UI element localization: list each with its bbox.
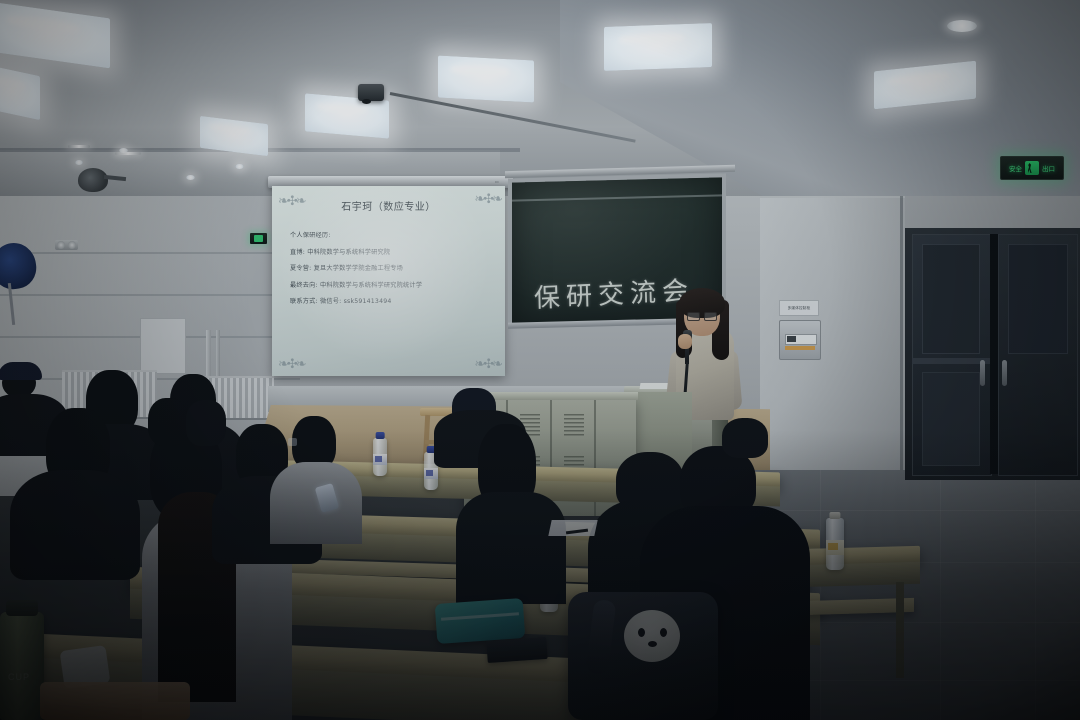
blackboard-text: 保研交流会 bbox=[534, 270, 695, 315]
thermos-cap bbox=[6, 600, 38, 616]
audience-head bbox=[722, 418, 768, 458]
control-panel-row bbox=[785, 334, 817, 345]
door-panel bbox=[1008, 244, 1068, 354]
snack-package bbox=[40, 682, 190, 720]
door-panel bbox=[922, 372, 980, 466]
control-panel-label: 多媒体控制柜 bbox=[788, 306, 811, 311]
wall-seam bbox=[0, 294, 300, 296]
slide-ornament-icon: ❧✣❧ bbox=[474, 192, 501, 205]
locker-vent bbox=[564, 414, 584, 436]
notebook bbox=[486, 637, 547, 663]
slide-body: 个人保研经历: 直博: 中科院数学与系统科学研究院 夏令营: 复旦大学数学学院金… bbox=[290, 230, 495, 313]
ceiling-downlight bbox=[75, 160, 83, 165]
floor-tile-line bbox=[1035, 470, 1036, 720]
thermos-flask bbox=[0, 612, 44, 720]
emergency-exit-sign: 安全 出口 bbox=[1000, 156, 1064, 180]
panda-nose-icon bbox=[648, 641, 657, 647]
door-handle[interactable] bbox=[980, 360, 985, 386]
ceiling-projector bbox=[358, 84, 384, 101]
slide-line: 最终去向: 中科院数学与系统科学研究院统计学 bbox=[290, 280, 495, 289]
slide-ornament-icon: ❧✣❧ bbox=[278, 357, 305, 370]
emergency-light bbox=[55, 240, 78, 250]
emergency-exit-sign-secondary bbox=[250, 233, 267, 244]
ceiling-downlight bbox=[947, 20, 977, 32]
thermos-label: CUP bbox=[8, 672, 30, 682]
wall-corner bbox=[900, 196, 903, 496]
control-panel-strip bbox=[785, 346, 815, 350]
running-person-exit-icon bbox=[254, 235, 263, 242]
lecture-hall-photo: 安全 出口 消防栓 多媒体控制柜 ▭ ❧✣❧ ❧✣❧ ❧✣❧ ❧✣❧ 石宇珂（数… bbox=[0, 0, 1080, 720]
water-bottle bbox=[373, 438, 387, 476]
ceiling-slit-light bbox=[68, 145, 90, 148]
floor-tile-line bbox=[820, 470, 821, 720]
ceiling-downlight bbox=[235, 164, 244, 169]
projector-lens-icon bbox=[362, 99, 371, 104]
slide-line: 联系方式: 微信号: ssk591413494 bbox=[290, 296, 495, 305]
audience-head bbox=[186, 400, 226, 446]
ceiling-downlight bbox=[186, 175, 195, 180]
door-panel bbox=[922, 244, 980, 354]
notebook-page bbox=[548, 520, 597, 536]
slide-ornament-icon: ❧✣❧ bbox=[474, 357, 501, 370]
bottle-label bbox=[424, 468, 438, 479]
running-person-exit-icon bbox=[1025, 161, 1039, 175]
exit-sign-right-label: 出口 bbox=[1042, 163, 1055, 173]
projector-screen: ❧✣❧ ❧✣❧ ❧✣❧ ❧✣❧ 石宇珂（数应专业） 个人保研经历: 直博: 中科… bbox=[272, 186, 505, 376]
wall-fan bbox=[78, 168, 108, 192]
av-control-panel[interactable] bbox=[779, 320, 821, 360]
water-bottle bbox=[826, 518, 844, 570]
bottle-label bbox=[826, 540, 844, 556]
floor-tile-line bbox=[940, 470, 941, 720]
bottle-cap bbox=[829, 512, 840, 519]
presenter-hand bbox=[678, 334, 692, 349]
ceiling-panel-light bbox=[604, 23, 712, 71]
glasses-icon bbox=[687, 312, 717, 319]
slide-line: 个人保研经历: bbox=[290, 230, 495, 239]
slide-ornament-icon: ❧✣❧ bbox=[278, 194, 305, 207]
bottle-label bbox=[373, 454, 387, 465]
audience-hair bbox=[148, 398, 188, 446]
panda-eye-icon bbox=[638, 628, 645, 637]
wall-seam bbox=[0, 252, 300, 254]
slide-title: 石宇珂（数应专业） bbox=[272, 198, 505, 213]
ceiling-slit-light bbox=[115, 152, 141, 155]
control-panel-sign: 多媒体控制柜 bbox=[779, 300, 819, 316]
panda-eye-icon bbox=[660, 628, 667, 637]
pencil-case bbox=[435, 598, 526, 644]
slide-line: 夏令营: 复旦大学数学学院金融工程专场 bbox=[290, 263, 495, 272]
slide-line: 直博: 中科院数学与系统科学研究院 bbox=[290, 247, 495, 256]
audience-grey-jacket bbox=[270, 462, 362, 544]
glasses-icon bbox=[288, 438, 297, 446]
door-rail bbox=[912, 358, 990, 364]
ceiling-panel-light bbox=[438, 55, 534, 102]
audience-shoulders bbox=[10, 470, 140, 580]
exit-sign-left-label: 安全 bbox=[1009, 163, 1022, 173]
backpack-panda-graphic bbox=[624, 610, 680, 662]
bottle-cap bbox=[376, 432, 385, 439]
wall-poster-frame bbox=[140, 318, 186, 374]
screen-brand-mark: ▭ bbox=[495, 179, 499, 184]
desk-leg bbox=[896, 582, 904, 678]
door-handle[interactable] bbox=[1002, 360, 1007, 386]
audience-cap bbox=[0, 362, 42, 380]
audience-shoulders bbox=[456, 492, 566, 604]
